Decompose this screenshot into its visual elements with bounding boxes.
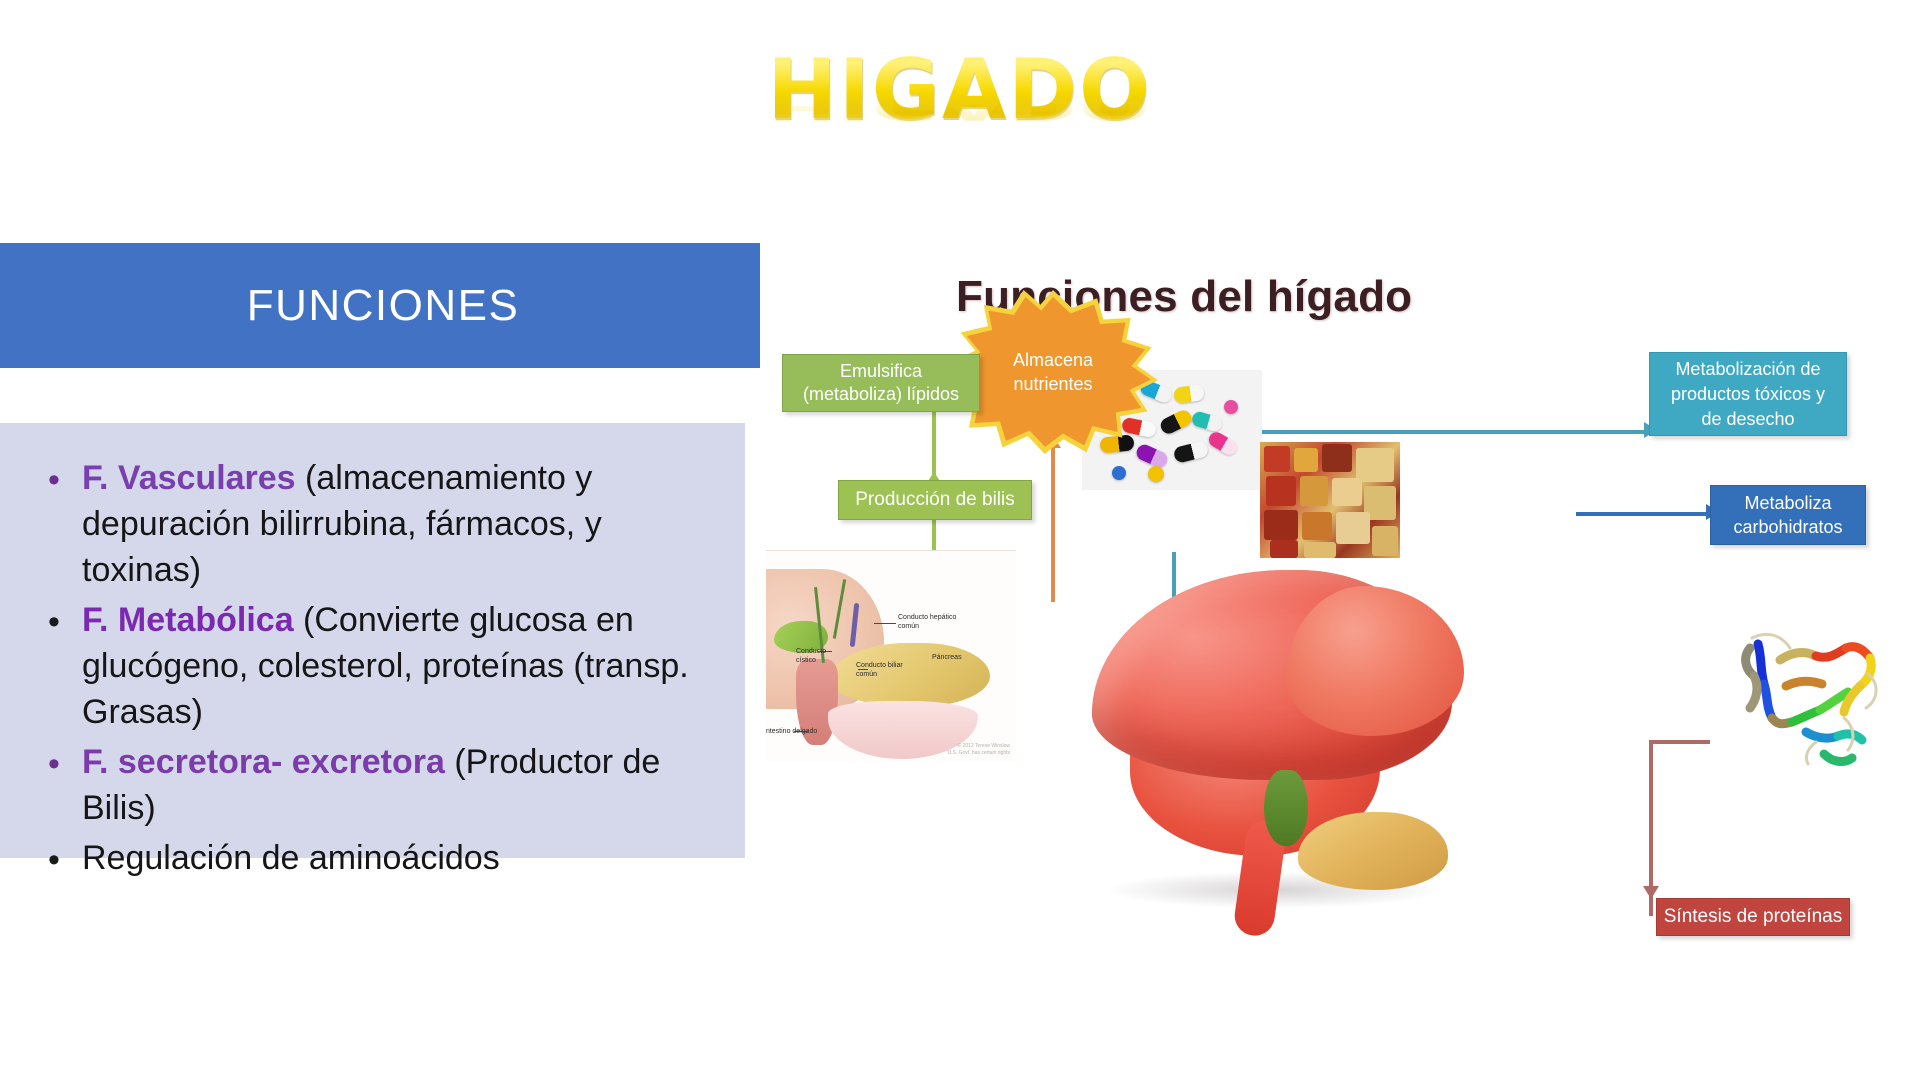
connector-food-horizontal bbox=[1576, 512, 1712, 516]
pill-round bbox=[1224, 400, 1238, 414]
anatomy-pancreas-shape bbox=[830, 643, 990, 707]
list-item-lead: F. Vasculares bbox=[82, 459, 296, 497]
food-piece bbox=[1332, 478, 1362, 506]
list-item-text: F. Metabólica (Convierte glucosa en gluc… bbox=[82, 597, 728, 735]
anatomy-inset-image: Conducto hepático común Conducto cístico… bbox=[766, 550, 1016, 761]
list-item: • F. Metabólica (Convierte glucosa en gl… bbox=[38, 597, 728, 735]
almacena-nutrientes-starburst: Almacena nutrientes bbox=[955, 297, 1151, 447]
anatomy-label-conducto-cistico: Conducto cístico bbox=[796, 647, 826, 665]
food-piece bbox=[1356, 448, 1394, 482]
starburst-label: Almacena nutrientes bbox=[955, 297, 1151, 447]
page-title: HIGADO bbox=[767, 48, 1151, 131]
callout-metabolizacion-toxicos: Metabolización de productos tóxicos y de… bbox=[1649, 352, 1847, 436]
list-item-lead: F. secretora- excretora bbox=[82, 743, 445, 781]
pill-capsule bbox=[1158, 408, 1194, 436]
carbohydrates-image bbox=[1260, 442, 1400, 558]
food-piece bbox=[1336, 512, 1370, 544]
pill-capsule bbox=[1206, 430, 1239, 458]
list-item: • Regulación de aminoácidos bbox=[38, 835, 728, 885]
list-item-text: Regulación de aminoácidos bbox=[82, 835, 728, 881]
list-item: • F. Vasculares (almacenamiento y depura… bbox=[38, 455, 728, 593]
callout-produccion-bilis: Producción de bilis bbox=[838, 480, 1032, 520]
food-piece bbox=[1264, 446, 1290, 472]
pill-capsule bbox=[1191, 410, 1224, 433]
liver-illustration bbox=[1060, 520, 1500, 950]
anatomy-label-intestino-delgado: Intestino delgado bbox=[766, 727, 817, 736]
food-piece bbox=[1270, 540, 1298, 558]
callout-sintesis-proteinas: Síntesis de proteínas bbox=[1656, 898, 1850, 936]
liver-functions-diagram: Funciones del hígado Conducto hepático c… bbox=[760, 180, 1919, 1010]
protein-ribbon-icon bbox=[1720, 614, 1900, 794]
food-piece bbox=[1372, 526, 1398, 556]
anatomy-label-conducto-biliar: Conducto biliar común bbox=[856, 661, 903, 679]
list-item-text: F. secretora- excretora (Productor de Bi… bbox=[82, 739, 728, 831]
food-piece bbox=[1300, 476, 1328, 506]
food-piece bbox=[1264, 510, 1298, 540]
list-item-text: F. Vasculares (almacenamiento y depuraci… bbox=[82, 455, 728, 593]
bullet-marker-icon: • bbox=[38, 739, 82, 789]
list-item: • F. secretora- excretora (Productor de … bbox=[38, 739, 728, 831]
liver-right-lobe bbox=[1286, 586, 1464, 736]
food-piece bbox=[1302, 512, 1332, 540]
bullet-marker-icon: • bbox=[38, 455, 82, 505]
bullet-marker-icon: • bbox=[38, 597, 82, 647]
anatomy-leader-line bbox=[874, 623, 896, 624]
pill-capsule bbox=[1173, 440, 1210, 464]
anatomy-image-credit: © 2012 Terese Winslow U.S. Govt. has cer… bbox=[947, 743, 1010, 757]
food-piece bbox=[1304, 542, 1336, 558]
anatomy-label-pancreas: Páncreas bbox=[932, 653, 962, 662]
connector-nutrientes bbox=[1051, 442, 1055, 602]
food-piece bbox=[1322, 444, 1352, 472]
bullet-marker-icon: • bbox=[38, 835, 82, 885]
pill-round bbox=[1112, 466, 1126, 480]
funciones-bullet-list: • F. Vasculares (almacenamiento y depura… bbox=[38, 455, 728, 889]
page-title-reflection: HIGADO bbox=[0, 90, 1919, 125]
pill-capsule bbox=[1173, 384, 1205, 404]
funciones-header-label: FUNCIONES bbox=[241, 281, 520, 331]
food-piece bbox=[1266, 476, 1296, 506]
callout-emulsifica-lipidos: Emulsifica (metaboliza) lípidos bbox=[782, 354, 980, 412]
food-piece bbox=[1294, 448, 1318, 472]
list-item-lead: F. Metabólica bbox=[82, 601, 294, 639]
protein-structure-image bbox=[1710, 610, 1900, 800]
liver-gallbladder bbox=[1264, 770, 1308, 846]
callout-metaboliza-carbohidratos: Metaboliza carbohidratos bbox=[1710, 485, 1866, 545]
anatomy-label-conducto-hepatico: Conducto hepático común bbox=[898, 613, 956, 631]
liver-pancreas bbox=[1298, 812, 1448, 890]
list-item-rest: Regulación de aminoácidos bbox=[82, 839, 500, 877]
funciones-header-bar: FUNCIONES bbox=[0, 243, 760, 368]
pill-round bbox=[1148, 466, 1164, 482]
